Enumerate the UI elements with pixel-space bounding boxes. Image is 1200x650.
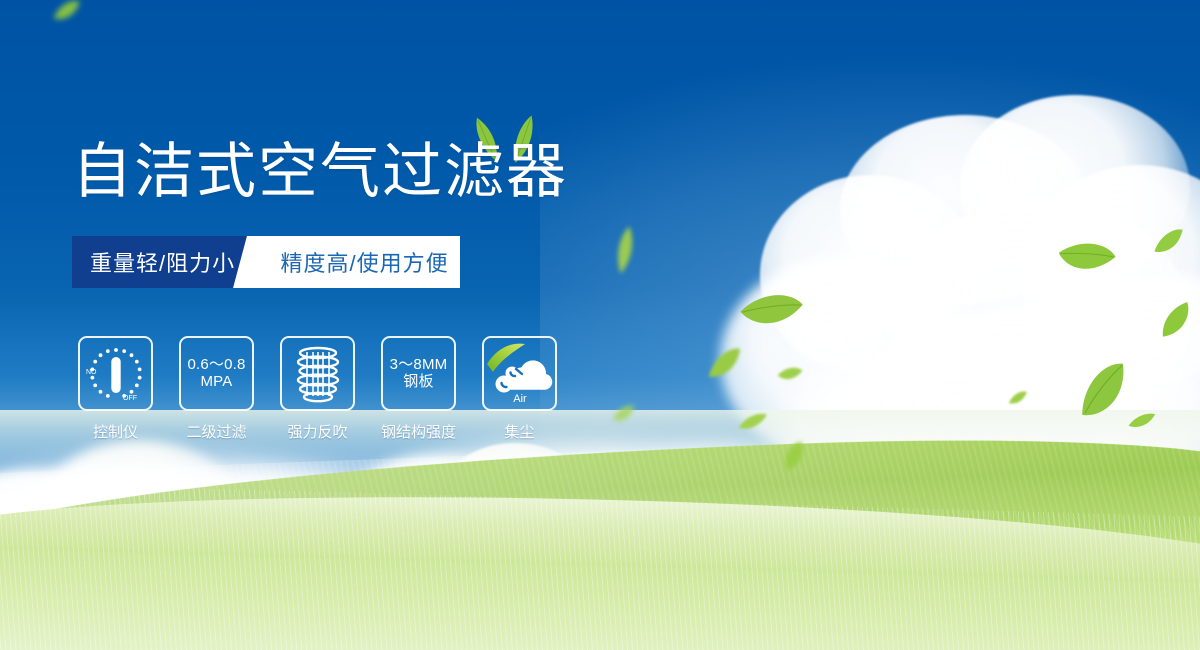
feature-item-controller[interactable]: NO OFF 控制仪 — [78, 336, 153, 442]
feature-label: 强力反吹 — [287, 421, 347, 442]
subtitle-left-block: 重量轻/阻力小 — [72, 236, 255, 288]
gauge-dial-icon: NO OFF — [83, 341, 149, 407]
gauge-on-label: NO — [86, 369, 97, 376]
subtitle-left-text: 重量轻/阻力小 — [90, 246, 235, 278]
cloud-air-caption: Air — [513, 393, 527, 405]
feature-list: NO OFF 控制仪 0.6〜0.8 MPA 二级过滤 — [78, 336, 557, 442]
feature-item-dust-collection[interactable]: Air 集尘 — [482, 336, 557, 442]
feature-label: 集尘 — [504, 421, 534, 442]
feature-label: 二级过滤 — [186, 421, 246, 442]
pressure-text-icon: 0.6〜0.8 MPA — [187, 357, 245, 391]
feature-item-steel-strength[interactable]: 3〜8MM 钢板 钢结构强度 — [381, 336, 456, 442]
cloud-air-icon: Air — [485, 342, 555, 406]
feature-icon-box: 0.6〜0.8 MPA — [179, 336, 254, 411]
pressure-range: 0.6〜0.8 — [187, 356, 245, 373]
feature-label: 控制仪 — [93, 421, 138, 442]
product-banner: 自洁式空气过滤器 重量轻/阻力小 精度高/使用方便 — [0, 0, 1200, 650]
banner-title: 自洁式空气过滤器 — [72, 142, 568, 202]
grass-field — [0, 410, 1200, 650]
feature-label: 钢结构强度 — [381, 421, 456, 442]
steel-plate-text-icon: 3〜8MM 钢板 — [390, 357, 448, 391]
filter-cartridge-icon — [289, 344, 347, 404]
feature-icon-box — [280, 336, 355, 411]
feature-item-backblow[interactable]: 强力反吹 — [280, 336, 355, 442]
steel-material: 钢板 — [390, 374, 448, 391]
steel-thickness: 3〜8MM — [390, 356, 448, 373]
feature-item-secondary-filter[interactable]: 0.6〜0.8 MPA 二级过滤 — [179, 336, 254, 442]
subtitle-bar: 重量轻/阻力小 精度高/使用方便 — [72, 236, 460, 288]
gauge-off-label: OFF — [123, 395, 137, 402]
subtitle-right-block: 精度高/使用方便 — [255, 236, 460, 288]
subtitle-right-text: 精度高/使用方便 — [281, 246, 449, 278]
pressure-unit: MPA — [187, 374, 245, 391]
feature-icon-box: 3〜8MM 钢板 — [381, 336, 456, 411]
feature-icon-box: NO OFF — [78, 336, 153, 411]
feature-icon-box: Air — [482, 336, 557, 411]
